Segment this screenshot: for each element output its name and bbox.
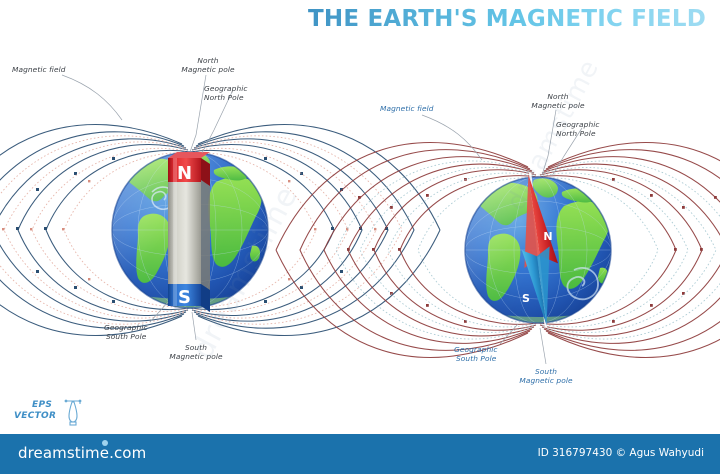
label-geographic-north-pole-line1: Geographic	[556, 120, 600, 129]
label-south-magnetic-pole-line2: Magnetic pole	[140, 352, 252, 361]
figure-bar-magnet-earth: N S Magnetic field North Magnetic pole G…	[0, 40, 360, 400]
label-geographic-north-pole-line2: North Pole	[556, 129, 596, 138]
magnet-south-pole-label: S	[178, 287, 191, 308]
label-south-magnetic-pole-line1: South	[146, 343, 246, 352]
label-north-magnetic-pole-line2: Magnetic pole	[158, 65, 258, 74]
label-geographic-south-pole-line1: Geographic	[454, 345, 498, 354]
needle-north-pole-label: N	[543, 230, 552, 243]
label-magnetic-field: Magnetic field	[12, 65, 66, 74]
dreamstime-logo[interactable]: dreamstime.com	[18, 444, 146, 462]
dreamstime-logo-dot	[102, 440, 108, 446]
figure-compass-needle-earth: N S Magnetic field North Magnetic pole G…	[360, 60, 720, 410]
eps-badge-line2: VECTOR	[14, 411, 56, 421]
image-credit: ID 316797430 © Agus Wahyudi	[538, 447, 704, 459]
label-magnetic-field: Magnetic field	[380, 104, 434, 113]
vector-pen-icon	[58, 398, 88, 428]
label-geographic-north-pole-line1: Geographic	[204, 84, 248, 93]
eps-badge-line1: EPS	[32, 400, 52, 410]
label-north-magnetic-pole-line1: North	[518, 92, 598, 101]
page-title: THE EARTH'S MAGNETIC FIELD	[308, 6, 706, 32]
label-north-magnetic-pole-line2: Magnetic pole	[508, 101, 608, 110]
poster-canvas: THE EARTH'S MAGNETIC FIELD	[0, 0, 720, 474]
footer-bar: dreamstime.com ID 316797430 © Agus Wahyu…	[0, 434, 720, 474]
label-geographic-south-pole-line1: Geographic	[104, 323, 148, 332]
label-geographic-south-pole-line2: South Pole	[456, 354, 496, 363]
needle-south-pole-label: S	[522, 292, 530, 305]
label-geographic-south-pole-line2: South Pole	[106, 332, 146, 341]
eps-vector-badge: EPS VECTOR	[14, 400, 88, 430]
label-south-magnetic-pole-line2: Magnetic pole	[490, 376, 602, 385]
dreamstime-logo-text: dreamstime.com	[18, 444, 146, 462]
label-geographic-north-pole-line2: North Pole	[204, 93, 244, 102]
magnet-north-pole-label: N	[177, 163, 192, 184]
label-north-magnetic-pole-line1: North	[168, 56, 248, 65]
label-south-magnetic-pole-line1: South	[496, 367, 596, 376]
